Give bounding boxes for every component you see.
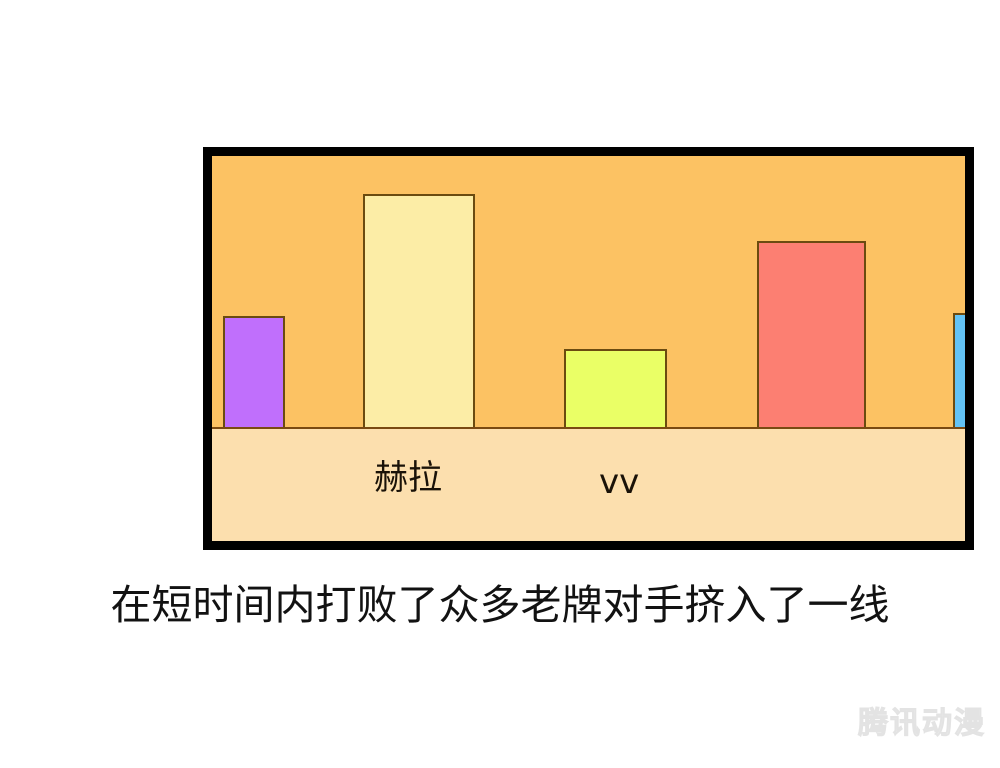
axis-label-vv: vv bbox=[599, 465, 639, 499]
axis-label-hela: 赫拉 bbox=[374, 461, 442, 495]
comic-panel: 赫拉 vv bbox=[203, 147, 974, 550]
bar-cream-hela bbox=[363, 194, 475, 429]
publisher-watermark: 腾讯动漫 bbox=[858, 698, 986, 742]
bar-blue bbox=[953, 313, 974, 429]
bar-salmon bbox=[757, 241, 866, 429]
bar-purple bbox=[223, 316, 285, 429]
bar-lime-vv bbox=[564, 349, 667, 429]
caption-text: 在短时间内打败了众多老牌对手挤入了一线 bbox=[0, 583, 1000, 628]
chart-baseline-ground bbox=[212, 427, 965, 541]
bar-chart: 赫拉 vv bbox=[212, 156, 965, 541]
